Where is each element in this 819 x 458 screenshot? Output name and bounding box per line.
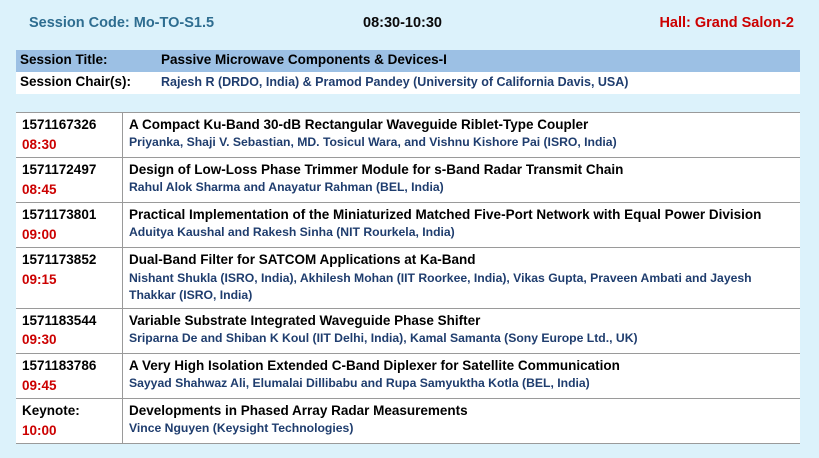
paper-id-cell: 1571172497 08:45 (16, 158, 123, 203)
paper-time: 09:30 (22, 330, 118, 350)
table-row: 1571172497 08:45 Design of Low-Loss Phas… (16, 158, 800, 203)
session-info-table: Session Title: Passive Microwave Compone… (16, 50, 800, 94)
paper-title: Practical Implementation of the Miniatur… (129, 205, 796, 224)
session-hall-label: Hall: Grand Salon-2 (595, 15, 819, 31)
paper-id: 1571173801 (22, 205, 118, 225)
papers-table: 1571167326 08:30 A Compact Ku-Band 30-dB… (16, 112, 800, 444)
session-header-bar: Session Code: Mo-TO-S1.5 08:30-10:30 Hal… (0, 0, 819, 46)
session-schedule-page: Session Code: Mo-TO-S1.5 08:30-10:30 Hal… (0, 0, 819, 458)
session-title-label: Session Title: (16, 50, 153, 72)
paper-authors: Rahul Alok Sharma and Anayatur Rahman (B… (129, 179, 796, 197)
keynote-id-cell: Keynote: 10:00 (16, 399, 123, 444)
session-chair-label: Session Chair(s): (16, 72, 153, 94)
paper-time: 09:00 (22, 225, 118, 245)
paper-body-cell: A Very High Isolation Extended C-Band Di… (123, 354, 801, 399)
session-chair-row: Session Chair(s): Rajesh R (DRDO, India)… (16, 72, 800, 94)
session-title-row: Session Title: Passive Microwave Compone… (16, 50, 800, 72)
table-row: 1571167326 08:30 A Compact Ku-Band 30-dB… (16, 113, 800, 158)
paper-id-cell: 1571183544 09:30 (16, 308, 123, 353)
table-row: 1571183786 09:45 A Very High Isolation E… (16, 354, 800, 399)
paper-id: 1571172497 (22, 160, 118, 180)
table-row-keynote: Keynote: 10:00 Developments in Phased Ar… (16, 399, 800, 444)
keynote-title: Developments in Phased Array Radar Measu… (129, 401, 796, 420)
paper-id: 1571173852 (22, 250, 118, 270)
paper-time: 08:45 (22, 180, 118, 200)
paper-body-cell: Practical Implementation of the Miniatur… (123, 203, 801, 248)
keynote-speaker: Vince Nguyen (Keysight Technologies) (129, 420, 796, 438)
paper-body-cell: Design of Low-Loss Phase Trimmer Module … (123, 158, 801, 203)
paper-title: Variable Substrate Integrated Waveguide … (129, 311, 796, 330)
paper-title: Design of Low-Loss Phase Trimmer Module … (129, 160, 796, 179)
paper-authors: Sayyad Shahwaz Ali, Elumalai Dillibabu a… (129, 375, 796, 393)
paper-body-cell: Variable Substrate Integrated Waveguide … (123, 308, 801, 353)
keynote-time: 10:00 (22, 421, 118, 441)
paper-title: Dual-Band Filter for SATCOM Applications… (129, 250, 796, 269)
paper-title: A Very High Isolation Extended C-Band Di… (129, 356, 796, 375)
table-row: 1571183544 09:30 Variable Substrate Inte… (16, 308, 800, 353)
session-title-value: Passive Microwave Components & Devices-I (153, 50, 800, 72)
paper-authors: Priyanka, Shaji V. Sebastian, MD. Tosicu… (129, 134, 796, 152)
papers-table-body: 1571167326 08:30 A Compact Ku-Band 30-dB… (16, 113, 800, 444)
paper-body-cell: Dual-Band Filter for SATCOM Applications… (123, 248, 801, 309)
session-code-label: Session Code: Mo-TO-S1.5 (0, 15, 345, 31)
keynote-label: Keynote: (22, 401, 118, 421)
keynote-body-cell: Developments in Phased Array Radar Measu… (123, 399, 801, 444)
paper-id-cell: 1571173852 09:15 (16, 248, 123, 309)
paper-id: 1571183544 (22, 311, 118, 331)
table-row: 1571173852 09:15 Dual-Band Filter for SA… (16, 248, 800, 309)
paper-time: 09:45 (22, 376, 118, 396)
table-row: 1571173801 09:00 Practical Implementatio… (16, 203, 800, 248)
paper-id-cell: 1571167326 08:30 (16, 113, 123, 158)
session-chair-value: Rajesh R (DRDO, India) & Pramod Pandey (… (153, 72, 800, 94)
paper-body-cell: A Compact Ku-Band 30-dB Rectangular Wave… (123, 113, 801, 158)
paper-time: 08:30 (22, 135, 118, 155)
paper-id-cell: 1571173801 09:00 (16, 203, 123, 248)
paper-id: 1571167326 (22, 115, 118, 135)
paper-id-cell: 1571183786 09:45 (16, 354, 123, 399)
paper-authors: Nishant Shukla (ISRO, India), Akhilesh M… (129, 270, 796, 305)
paper-title: A Compact Ku-Band 30-dB Rectangular Wave… (129, 115, 796, 134)
paper-time: 09:15 (22, 270, 118, 290)
session-time-range: 08:30-10:30 (345, 15, 595, 31)
paper-authors: Sriparna De and Shiban K Koul (IIT Delhi… (129, 330, 796, 348)
paper-authors: Aduitya Kaushal and Rakesh Sinha (NIT Ro… (129, 224, 796, 242)
paper-id: 1571183786 (22, 356, 118, 376)
